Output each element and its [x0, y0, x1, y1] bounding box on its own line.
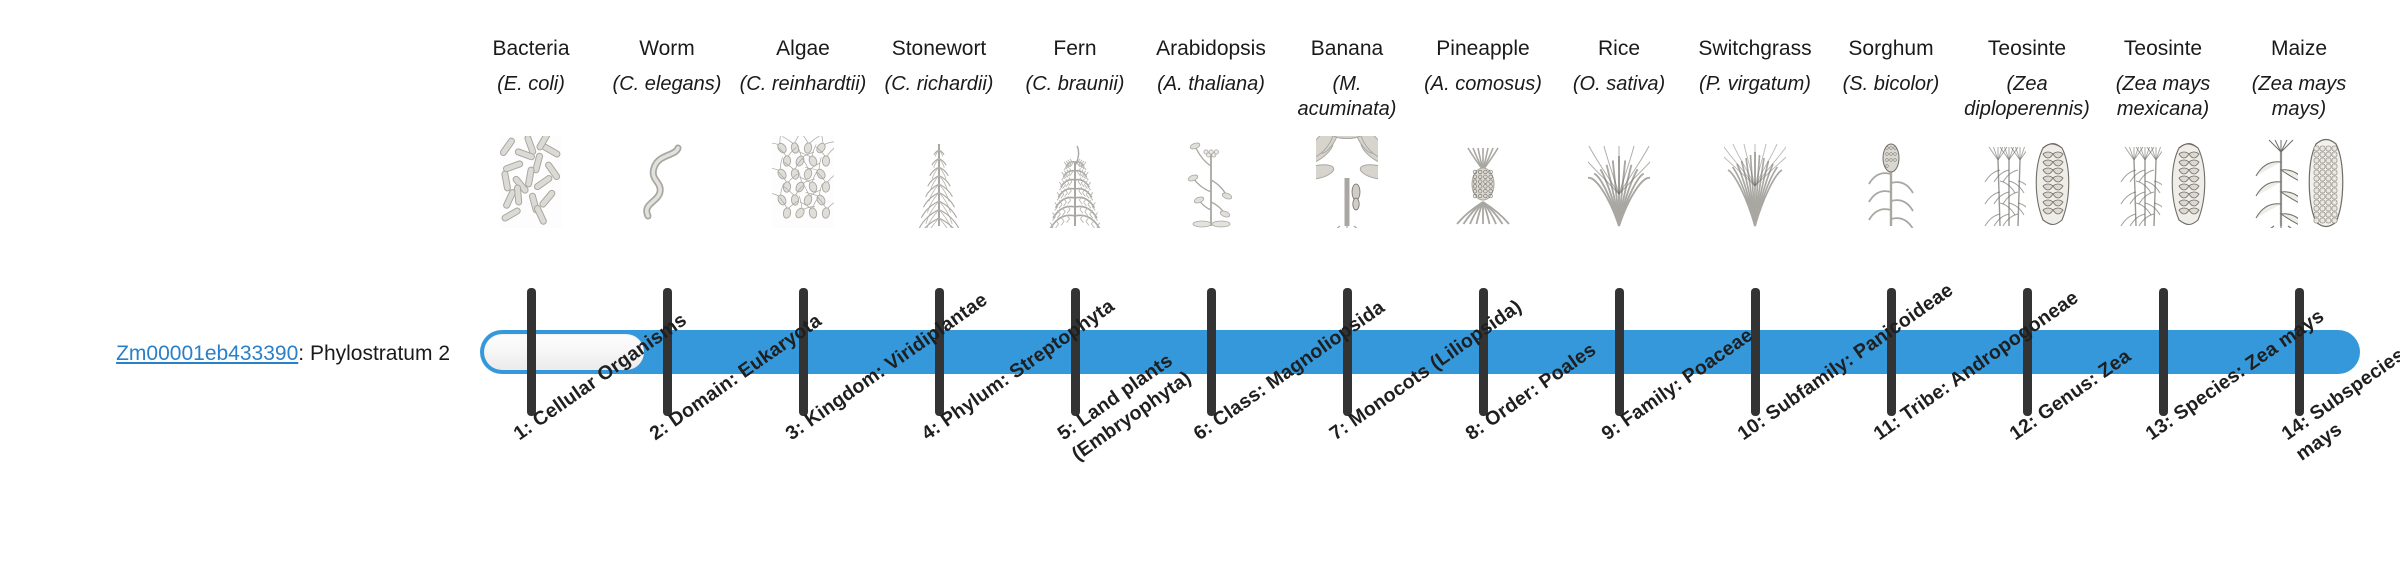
phylostratum-tick-4[interactable] — [935, 288, 944, 416]
species-column-9: Rice(O. sativa) — [1553, 36, 1685, 228]
phylostratum-tick-10[interactable] — [1751, 288, 1760, 416]
species-column-6: Arabidopsis(A. thaliana) — [1145, 36, 1277, 228]
fern-icon — [1009, 132, 1141, 228]
species-column-13: Teosinte(Zea mays mexicana) — [2097, 36, 2229, 228]
species-latin-name: (C. elegans) — [601, 72, 733, 128]
species-column-4: Stonewort(C. richardii) — [873, 36, 1005, 228]
species-latin-name: (C. reinhardtii) — [737, 72, 869, 128]
species-common-name: Teosinte — [2097, 36, 2229, 62]
rice-plant-icon — [1553, 132, 1685, 228]
species-latin-name: (O. sativa) — [1553, 72, 1685, 128]
algae-icon — [737, 132, 869, 228]
species-column-2: Worm(C. elegans) — [601, 36, 733, 228]
gene-phylostratum-label: Zm00001eb433390: Phylostratum 2 — [0, 340, 450, 368]
gene-id-link[interactable]: Zm00001eb433390 — [116, 342, 298, 365]
teosinte-plant-and-ear-icon — [1961, 132, 2093, 228]
species-common-name: Banana — [1281, 36, 1413, 62]
species-common-name: Pineapple — [1417, 36, 1549, 62]
species-common-name: Teosinte — [1961, 36, 2093, 62]
maize-plant-and-ear-icon — [2233, 132, 2365, 228]
gene-label-separator: : — [298, 342, 310, 365]
species-latin-name: (C. richardii) — [873, 72, 1005, 128]
species-column-11: Sorghum(S. bicolor) — [1825, 36, 1957, 228]
species-column-5: Fern(C. braunii) — [1009, 36, 1141, 228]
phylostratum-timeline: Zm00001eb433390: Phylostratum 2 Bacteria… — [0, 0, 2400, 580]
bacteria-icon — [465, 132, 597, 228]
species-latin-name: (Zea diploperennis) — [1961, 72, 2093, 128]
species-column-7: Banana(M. acuminata) — [1281, 36, 1413, 228]
species-common-name: Fern — [1009, 36, 1141, 62]
species-latin-name: (A. comosus) — [1417, 72, 1549, 128]
phylostratum-tick-8[interactable] — [1479, 288, 1488, 416]
phylostratum-tick-13[interactable] — [2159, 288, 2168, 416]
species-common-name: Worm — [601, 36, 733, 62]
phylostratum-tick-7[interactable] — [1343, 288, 1352, 416]
sorghum-icon — [1825, 132, 1957, 228]
species-column-12: Teosinte(Zea diploperennis) — [1961, 36, 2093, 228]
phylostratum-tick-14[interactable] — [2295, 288, 2304, 416]
species-common-name: Arabidopsis — [1145, 36, 1277, 62]
species-common-name: Rice — [1553, 36, 1685, 62]
species-latin-name: (Zea mays mexicana) — [2097, 72, 2229, 128]
phylostratum-tick-2[interactable] — [663, 288, 672, 416]
species-common-name: Bacteria — [465, 36, 597, 62]
species-common-name: Algae — [737, 36, 869, 62]
worm-icon — [601, 132, 733, 228]
species-common-name: Switchgrass — [1689, 36, 1821, 62]
species-common-name: Sorghum — [1825, 36, 1957, 62]
species-column-8: Pineapple(A. comosus) — [1417, 36, 1549, 228]
arabidopsis-icon — [1145, 132, 1277, 228]
species-latin-name: (E. coli) — [465, 72, 597, 128]
species-common-name: Maize — [2233, 36, 2365, 62]
species-latin-name: (A. thaliana) — [1145, 72, 1277, 128]
phylostratum-tick-12[interactable] — [2023, 288, 2032, 416]
species-latin-name: (C. braunii) — [1009, 72, 1141, 128]
pineapple-icon — [1417, 132, 1549, 228]
phylostratum-tick-5[interactable] — [1071, 288, 1080, 416]
phylostratum-tick-9[interactable] — [1615, 288, 1624, 416]
teosinte-plant-and-ear-icon — [2097, 132, 2229, 228]
species-column-10: Switchgrass(P. virgatum) — [1689, 36, 1821, 228]
species-latin-name: (S. bicolor) — [1825, 72, 1957, 128]
species-latin-name: (Zea mays mays) — [2233, 72, 2365, 128]
species-column-14: Maize(Zea mays mays) — [2233, 36, 2365, 228]
species-latin-name: (P. virgatum) — [1689, 72, 1821, 128]
phylostratum-tick-11[interactable] — [1887, 288, 1896, 416]
species-common-name: Stonewort — [873, 36, 1005, 62]
gene-phylostratum-value: Phylostratum 2 — [310, 342, 450, 365]
species-latin-name: (M. acuminata) — [1281, 72, 1413, 128]
switchgrass-icon — [1689, 132, 1821, 228]
phylostratum-tick-3[interactable] — [799, 288, 808, 416]
species-column-1: Bacteria(E. coli) — [465, 36, 597, 228]
species-column-3: Algae(C. reinhardtii) — [737, 36, 869, 228]
phylostratum-tick-1[interactable] — [527, 288, 536, 416]
banana-plant-icon — [1281, 132, 1413, 228]
stonewort-icon — [873, 132, 1005, 228]
